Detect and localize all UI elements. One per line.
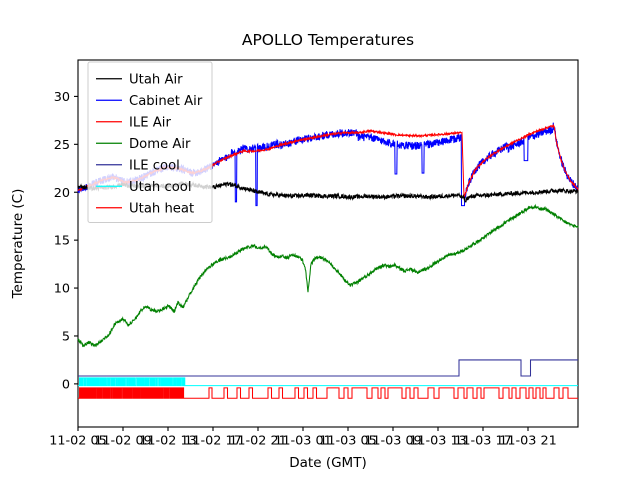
series-line-utah-heat xyxy=(78,388,578,398)
series-line-dome-air xyxy=(78,206,578,347)
y-tick-label: 10 xyxy=(54,282,70,297)
legend-label: Utah heat xyxy=(129,201,194,216)
chart-canvas: APOLLO Temperatures 11-02 0511-02 0911-0… xyxy=(0,0,640,480)
y-tick-label: 25 xyxy=(54,138,70,153)
y-tick-label: 0 xyxy=(62,377,70,392)
page-title: APOLLO Temperatures xyxy=(242,31,414,49)
chart-figure: APOLLO Temperatures 11-02 0511-02 0911-0… xyxy=(0,0,640,480)
legend-label: ILE Air xyxy=(129,115,171,130)
y-tick-label: 30 xyxy=(54,90,70,105)
series-line-utah-cool xyxy=(78,378,578,386)
legend-label: Utah cool xyxy=(129,180,192,195)
series-line-ile-cool xyxy=(78,360,578,376)
y-tick-label: 5 xyxy=(62,330,70,345)
y-tick-label: 20 xyxy=(54,186,70,201)
legend-label: Cabinet Air xyxy=(129,94,203,109)
legend-label: Utah Air xyxy=(129,72,183,87)
y-tick-label: 15 xyxy=(54,234,70,249)
legend-label: Dome Air xyxy=(129,137,191,152)
y-axis-title: Temperature (C) xyxy=(10,189,26,300)
x-tick-label: 11-03 21 xyxy=(499,434,557,449)
legend-label: ILE cool xyxy=(129,158,180,173)
x-axis-title: Date (GMT) xyxy=(289,455,366,471)
